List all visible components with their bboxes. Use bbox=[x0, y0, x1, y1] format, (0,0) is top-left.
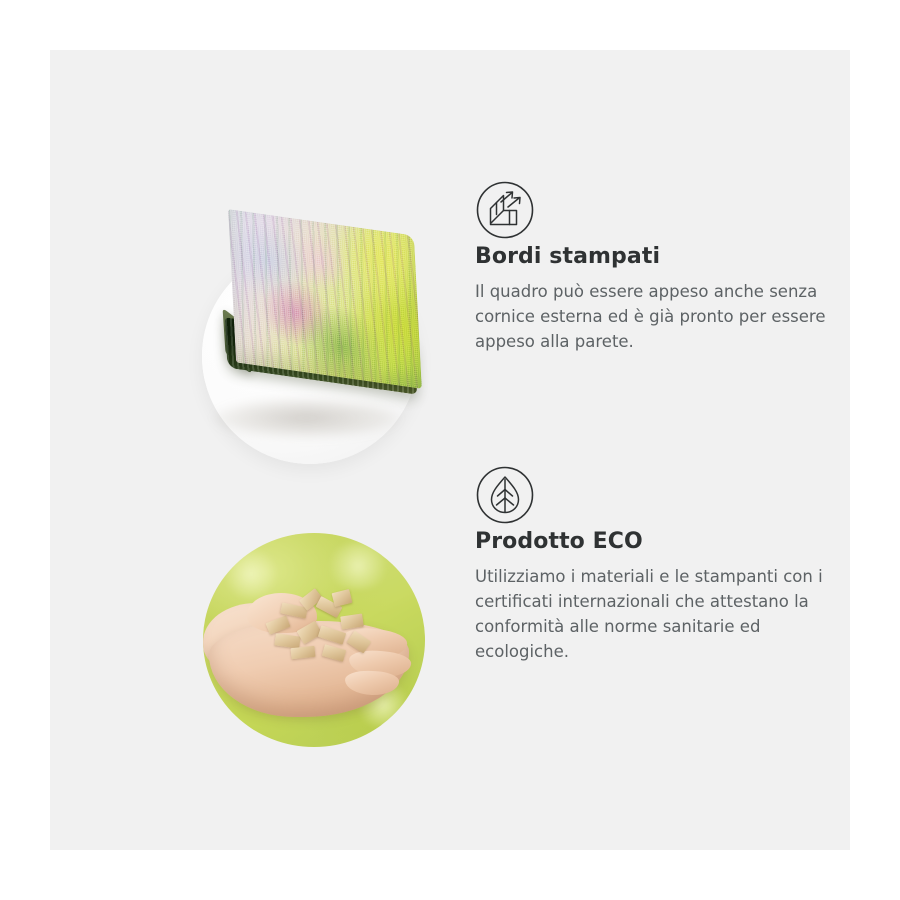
wood-chips-pile bbox=[261, 585, 371, 663]
wood-chip bbox=[332, 589, 353, 607]
wood-chip bbox=[274, 633, 300, 648]
leaf-icon bbox=[475, 465, 850, 529]
canvas-object bbox=[224, 223, 439, 453]
feature-block-printed-edges: Bordi stampati Il quadro può essere appe… bbox=[150, 180, 850, 480]
feature-text-printed-edges: Bordi stampati Il quadro può essere appe… bbox=[475, 180, 850, 354]
feature-title: Prodotto ECO bbox=[475, 529, 850, 555]
canvas-printed-face bbox=[228, 209, 422, 389]
feature-description: Il quadro può essere appeso anche senza … bbox=[475, 279, 845, 354]
wood-chips-hands-photo bbox=[203, 533, 425, 747]
wood-chip bbox=[266, 615, 291, 634]
canvas-corner-photo bbox=[202, 248, 418, 464]
feature-title: Bordi stampati bbox=[475, 244, 850, 270]
content-panel: Bordi stampati Il quadro può essere appe… bbox=[50, 50, 850, 850]
feature-description: Utilizziamo i materiali e le stampanti c… bbox=[475, 564, 845, 664]
wood-chip bbox=[340, 614, 364, 630]
canvas-brush-strokes bbox=[228, 209, 422, 389]
wood-chip bbox=[322, 644, 346, 662]
hands-holding-chips bbox=[203, 533, 425, 747]
product-feature-page: Bordi stampati Il quadro può essere appe… bbox=[0, 0, 900, 900]
wood-chip bbox=[347, 631, 371, 654]
canvas-wrapped-edge-icon bbox=[475, 180, 850, 244]
feature-block-eco-product: Prodotto ECO Utilizziamo i materiali e l… bbox=[150, 465, 850, 765]
feature-text-eco-product: Prodotto ECO Utilizziamo i materiali e l… bbox=[475, 465, 850, 664]
wood-chip bbox=[290, 646, 315, 659]
